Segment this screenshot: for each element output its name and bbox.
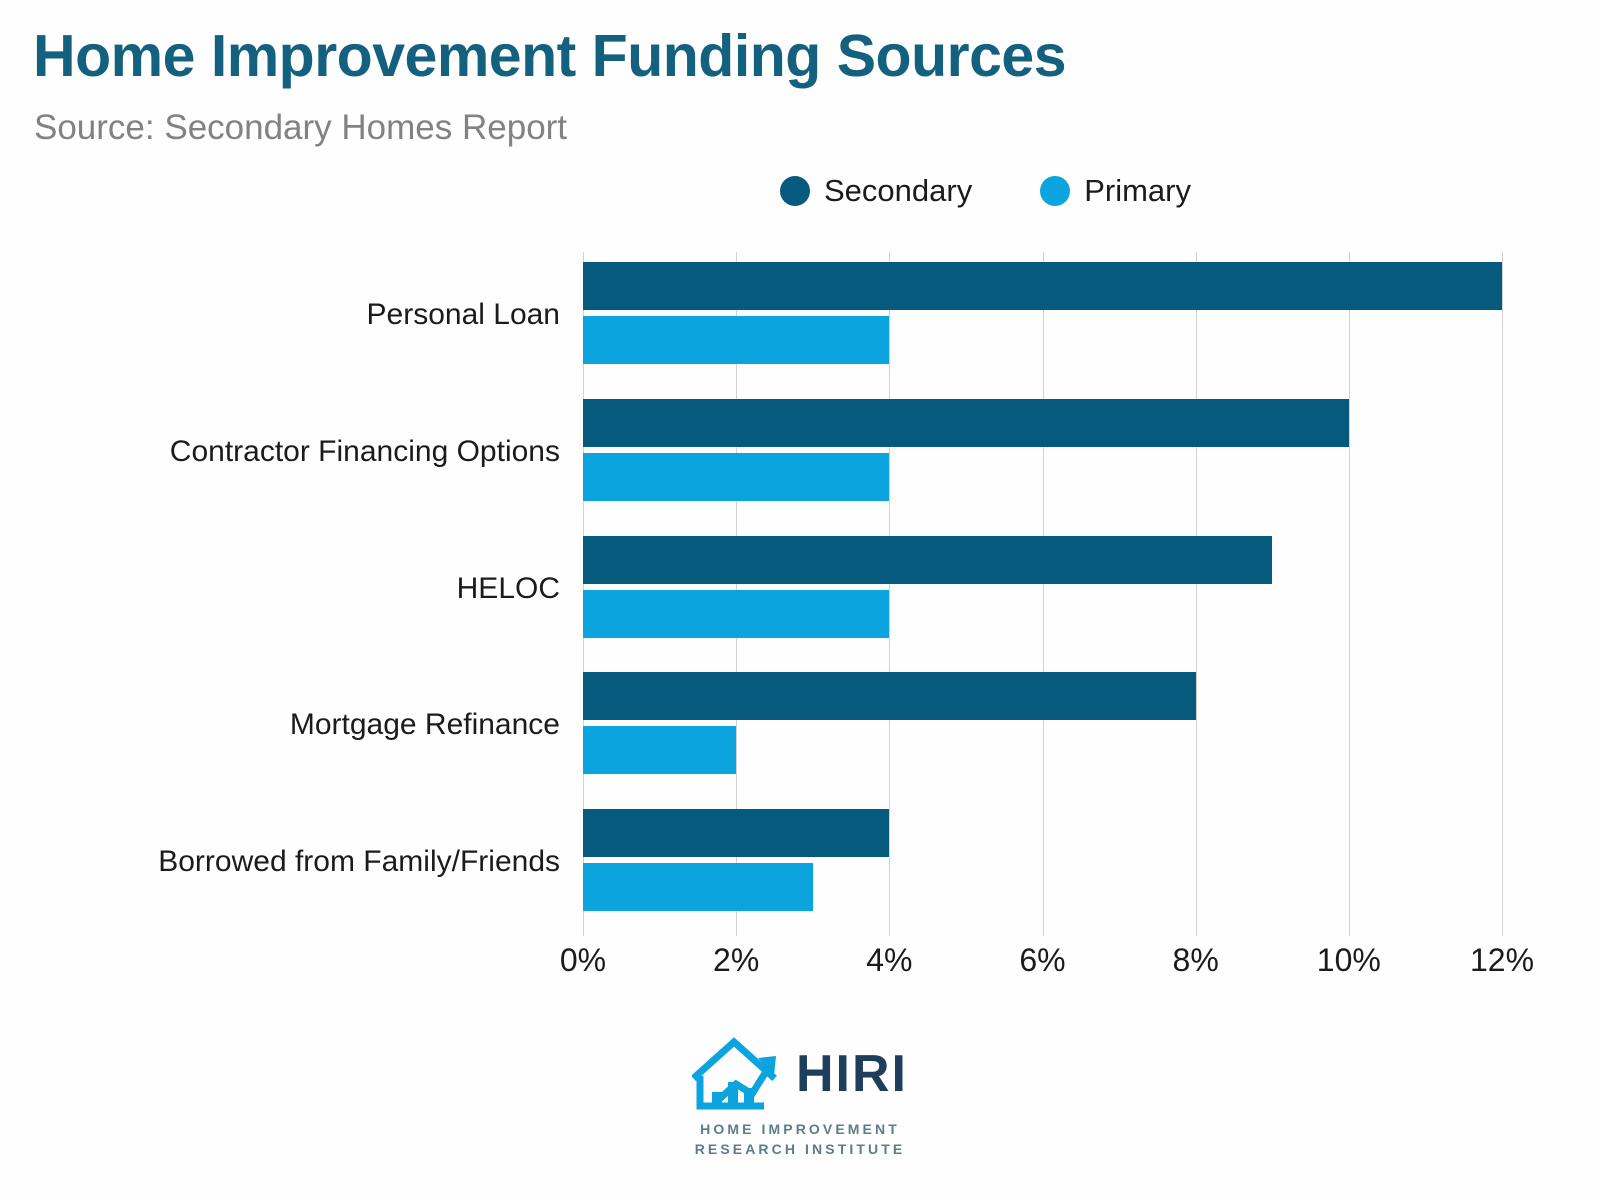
hiri-logo: HIRI HOME IMPROVEMENT RESEARCH INSTITUTE [692, 1036, 908, 1160]
bar-group [583, 256, 1502, 366]
bar-group [583, 803, 1502, 913]
logo-lockup: HIRI [692, 1036, 908, 1112]
x-tick-label: 12% [1470, 942, 1534, 979]
chart-plot-wrapper: Personal LoanContractor Financing Option… [0, 0, 1600, 1000]
bar-primary[interactable] [583, 453, 889, 501]
category-label: Mortgage Refinance [0, 708, 560, 742]
bar-primary[interactable] [583, 316, 889, 364]
category-label: Borrowed from Family/Friends [0, 845, 560, 879]
bar-group [583, 393, 1502, 503]
bar-secondary[interactable] [583, 536, 1272, 584]
logo-tagline-line2: RESEARCH INSTITUTE [695, 1139, 906, 1159]
bar-secondary[interactable] [583, 809, 889, 857]
x-tick-label: 4% [866, 942, 912, 979]
logo-tagline: HOME IMPROVEMENT RESEARCH INSTITUTE [695, 1119, 906, 1160]
category-label: Personal Loan [0, 298, 560, 332]
hiri-house-chart-arrow-icon [692, 1036, 784, 1112]
x-tick-label: 0% [560, 942, 606, 979]
x-tick-label: 6% [1019, 942, 1065, 979]
bar-group [583, 666, 1502, 776]
bar-secondary[interactable] [583, 262, 1502, 310]
logo-wordmark: HIRI [796, 1048, 908, 1100]
category-label: Contractor Financing Options [0, 435, 560, 469]
bar-secondary[interactable] [583, 672, 1196, 720]
bar-secondary[interactable] [583, 399, 1349, 447]
x-tick-label: 10% [1317, 942, 1381, 979]
chart-x-axis-ticks: 0%2%4%6%8%10%12% [583, 942, 1502, 988]
bar-primary[interactable] [583, 726, 736, 774]
chart-plot-area [583, 252, 1502, 936]
bar-primary[interactable] [583, 863, 813, 911]
bar-group [583, 530, 1502, 640]
gridline-12 [1502, 252, 1503, 936]
bar-primary[interactable] [583, 590, 889, 638]
category-label: HELOC [0, 572, 560, 606]
x-tick-label: 8% [1173, 942, 1219, 979]
chart-page: Home Improvement Funding Sources Source:… [0, 0, 1600, 1200]
x-tick-label: 2% [713, 942, 759, 979]
logo-tagline-line1: HOME IMPROVEMENT [695, 1119, 906, 1139]
